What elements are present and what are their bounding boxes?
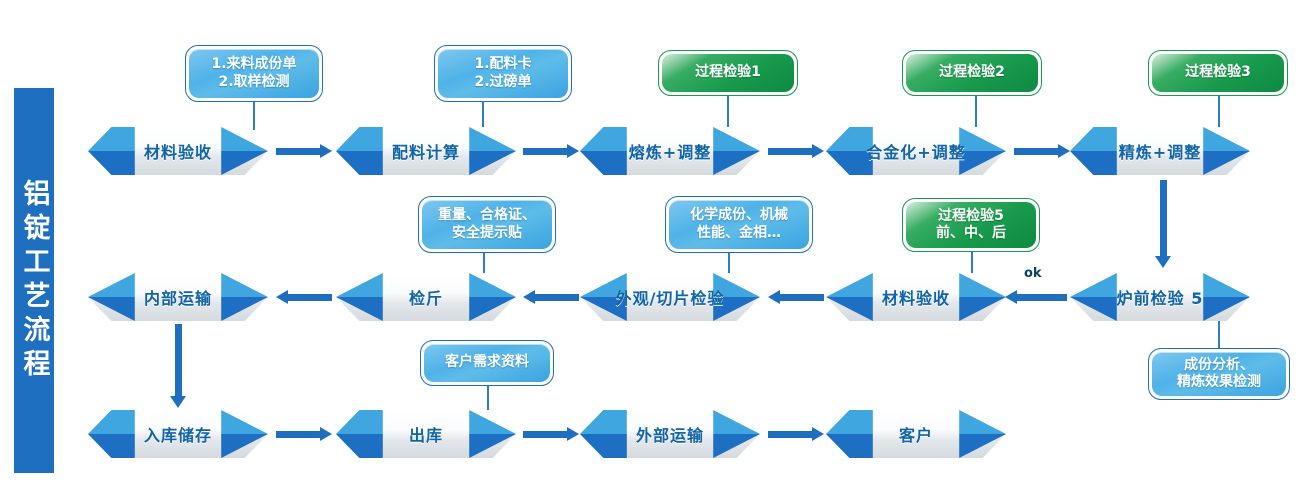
leader-line-row1-2 bbox=[727, 96, 729, 130]
callout-line: 客户需求资料 bbox=[445, 354, 529, 371]
callout-row1-0: 1.来料成份单 2.取样检测 bbox=[185, 45, 323, 102]
callout-line: 1.来料成份单 bbox=[211, 56, 296, 73]
callout-line: 重量、合格证、 bbox=[438, 207, 536, 224]
step-label: 客户 bbox=[826, 410, 1006, 458]
callout-row2-3: 成份分析、 精炼效果检测 bbox=[1148, 348, 1290, 400]
callout-line: 过程检验3 bbox=[1185, 64, 1251, 81]
arrow-left-r2-0 bbox=[276, 290, 332, 304]
process-step-prefurnace-inspection[interactable]: 炉前检验 5 bbox=[1070, 273, 1250, 321]
process-step-warehouse-storage[interactable]: 入库储存 bbox=[88, 410, 268, 458]
arrow-right-r3-2 bbox=[768, 427, 824, 441]
arrow-down-r1-to-r2 bbox=[1155, 180, 1171, 268]
callout-row1-4: 过程检验3 bbox=[1148, 50, 1288, 96]
callout-row2-2: 过程检验5 前、中、后 bbox=[902, 198, 1040, 252]
callout-body: 1.配料卡 2.过磅单 bbox=[438, 49, 568, 98]
arrow-right-r1-0 bbox=[276, 144, 332, 158]
callout-body: 化学成份、机械 性能、金相… bbox=[669, 200, 809, 249]
callout-line: 2.过磅单 bbox=[474, 74, 531, 91]
process-step-material-inspection[interactable]: 材料验收 bbox=[88, 127, 268, 175]
callout-row2-0: 重量、合格证、 安全提示贴 bbox=[418, 196, 556, 253]
process-step-refining-adjust[interactable]: 精炼+调整 bbox=[1070, 127, 1250, 175]
process-step-batch-calculation[interactable]: 配料计算 bbox=[336, 127, 516, 175]
callout-line: 1.配料卡 bbox=[474, 56, 531, 73]
callout-line: 2.取样检测 bbox=[218, 74, 289, 91]
process-step-outbound[interactable]: 出库 bbox=[336, 410, 516, 458]
arrow-down-r2-to-r3 bbox=[170, 324, 186, 408]
callout-body: 过程检验3 bbox=[1152, 54, 1284, 92]
step-label: 材料验收 bbox=[88, 127, 268, 175]
arrow-left-r2-3 bbox=[1005, 290, 1067, 304]
callout-line: 化学成份、机械 bbox=[690, 207, 788, 224]
callout-row1-3: 过程检验2 bbox=[902, 50, 1042, 96]
step-label: 入库储存 bbox=[88, 410, 268, 458]
step-label: 内部运输 bbox=[88, 273, 268, 321]
edge-label-ok: ok bbox=[1024, 266, 1042, 281]
callout-body: 客户需求资料 bbox=[424, 344, 550, 382]
process-step-melting-adjust[interactable]: 熔炼+调整 bbox=[580, 127, 760, 175]
leader-line-row1-0 bbox=[253, 102, 255, 130]
process-step-internal-transport[interactable]: 内部运输 bbox=[88, 273, 268, 321]
step-label: 出库 bbox=[336, 410, 516, 458]
step-label: 检斤 bbox=[336, 273, 516, 321]
step-label: 外部运输 bbox=[580, 410, 760, 458]
process-step-weighing[interactable]: 检斤 bbox=[336, 273, 516, 321]
callout-row2-1: 化学成份、机械 性能、金相… bbox=[665, 196, 813, 253]
process-step-customer[interactable]: 客户 bbox=[826, 410, 1006, 458]
page-title: 铝锭工艺流程 bbox=[21, 179, 48, 383]
flowchart-canvas: 铝锭工艺流程 1.来料成份单 2.取样检测 1.配料卡 2.过磅单 过程检验1 … bbox=[0, 0, 1300, 503]
arrow-right-r3-1 bbox=[523, 427, 579, 441]
callout-line: 精炼效果检测 bbox=[1177, 374, 1261, 391]
callout-line: 性能、金相… bbox=[697, 225, 781, 242]
process-step-material-acceptance[interactable]: 材料验收 bbox=[826, 273, 1006, 321]
step-label: 炉前检验 5 bbox=[1070, 273, 1250, 321]
callout-body: 过程检验1 bbox=[662, 54, 794, 92]
arrow-right-r1-3 bbox=[1014, 144, 1070, 158]
callout-body: 1.来料成份单 2.取样检测 bbox=[189, 49, 319, 98]
callout-body: 过程检验2 bbox=[906, 54, 1038, 92]
callout-row1-2: 过程检验1 bbox=[658, 50, 798, 96]
step-label: 材料验收 bbox=[826, 273, 1006, 321]
callout-line: 前、中、后 bbox=[936, 225, 1006, 242]
process-step-external-transport[interactable]: 外部运输 bbox=[580, 410, 760, 458]
callout-row3-0: 客户需求资料 bbox=[420, 340, 554, 386]
step-label: 外观/切片检验 bbox=[580, 273, 760, 321]
callout-body: 成份分析、 精炼效果检测 bbox=[1152, 352, 1286, 396]
arrow-right-r1-1 bbox=[523, 144, 579, 158]
arrow-right-r1-2 bbox=[768, 144, 824, 158]
arrow-left-r2-1 bbox=[523, 290, 579, 304]
process-step-alloying-adjust[interactable]: 合金化+调整 bbox=[826, 127, 1006, 175]
callout-line: 成份分析、 bbox=[1184, 357, 1254, 374]
step-label: 配料计算 bbox=[336, 127, 516, 175]
callout-body: 过程检验5 前、中、后 bbox=[906, 202, 1036, 248]
leader-line-row2-3 bbox=[1218, 321, 1220, 348]
step-label: 合金化+调整 bbox=[826, 127, 1006, 175]
process-step-appearance-slice-inspection[interactable]: 外观/切片检验 bbox=[580, 273, 760, 321]
step-label: 精炼+调整 bbox=[1070, 127, 1250, 175]
callout-line: 过程检验1 bbox=[695, 64, 761, 81]
callout-body: 重量、合格证、 安全提示贴 bbox=[422, 200, 552, 249]
diagram-title-bar: 铝锭工艺流程 bbox=[14, 88, 54, 473]
step-label: 熔炼+调整 bbox=[580, 127, 760, 175]
leader-line-row1-1 bbox=[482, 102, 484, 130]
leader-line-row1-3 bbox=[975, 96, 977, 130]
callout-line: 过程检验2 bbox=[939, 64, 1005, 81]
arrow-left-r2-2 bbox=[768, 290, 824, 304]
callout-line: 安全提示贴 bbox=[452, 225, 522, 242]
leader-line-row1-4 bbox=[1218, 96, 1220, 130]
callout-row1-1: 1.配料卡 2.过磅单 bbox=[434, 45, 572, 102]
arrow-right-r3-0 bbox=[276, 427, 332, 441]
callout-line: 过程检验5 bbox=[938, 208, 1004, 225]
